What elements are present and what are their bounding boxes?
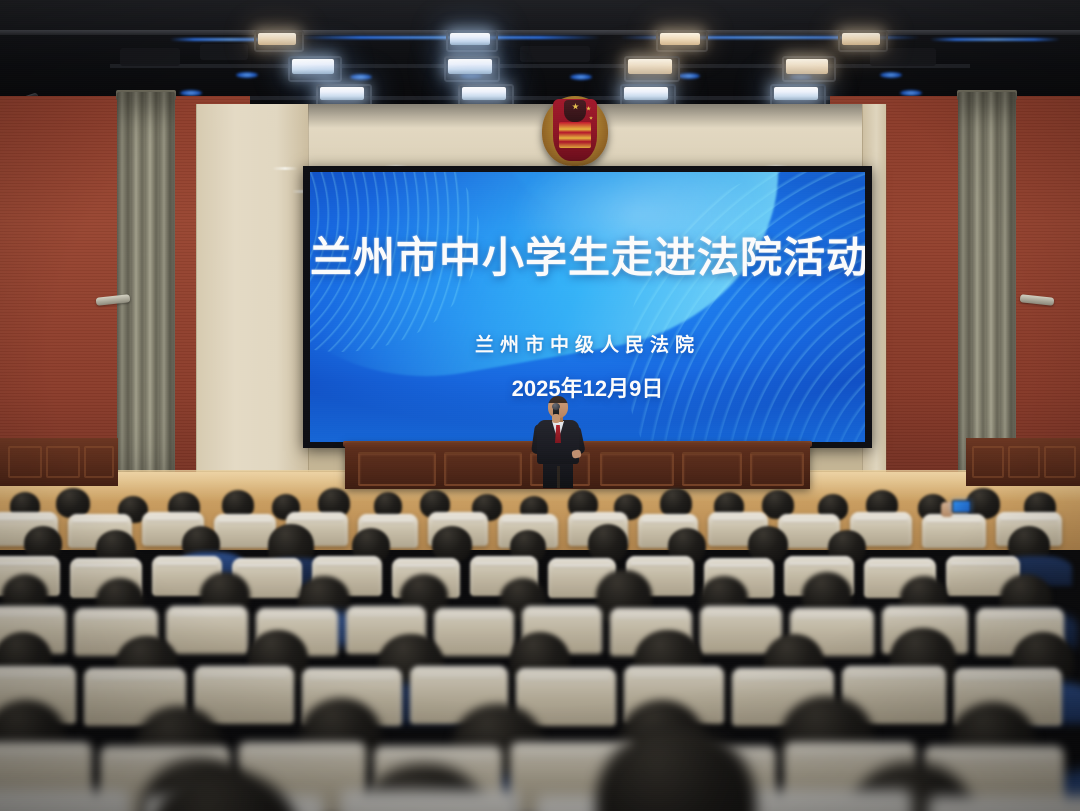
ceiling-lip [0,30,1080,35]
microphone-head [552,403,560,410]
stage-light [842,33,880,45]
ceiling-led-dot [236,72,258,78]
ceiling-led-dot [880,72,902,78]
stage-light [624,87,668,100]
stage-light [462,87,506,100]
screen-title: 兰州市中小学生走进法院活动 [310,224,865,285]
audience-seat [194,666,294,724]
audience-area [0,470,1080,811]
stage-light [774,87,818,100]
audience-seat [166,606,248,654]
ceiling-rig-block [120,48,180,66]
wall-seam [196,104,197,516]
audience-seat [434,608,514,656]
national-emblem-icon [542,92,608,170]
stage-light [292,59,334,74]
audience-seat [214,514,276,548]
ceiling-rig-block [200,44,248,60]
stage-light [786,59,828,74]
stage-light [258,33,296,45]
stage-light [628,59,672,74]
screen-subtitle: 兰州市中级人民法院 [310,330,865,357]
stage-light [660,33,700,45]
ceiling-led-strip [930,38,1060,41]
presenter-hand-gesture [571,449,581,458]
audience-seat [922,514,986,548]
audience-seat [0,790,130,811]
emblem-gate-top [564,100,586,122]
audience-seat [340,790,520,811]
curtain-left [117,92,175,522]
audience-seat [928,796,1080,811]
wall-pillar-left [196,104,308,516]
audience-head [588,524,628,562]
ceiling-rig-block [520,46,590,62]
presenter-hand [552,414,560,423]
auditorium-photo: 兰州市中小学生走进法院活动 兰州市中级人民法院 2025年12月9日 [0,0,1080,811]
wall-glint [272,167,298,170]
emblem-tiananmen-gate [559,122,591,148]
audience-seat [732,790,912,811]
phone-screen[interactable] [952,500,971,513]
stage-light [448,59,492,74]
screen-date: 2025年12月9日 [310,371,865,403]
ceiling-led-dot [570,74,592,80]
audience-head [748,526,788,562]
lighting-truss [110,64,970,68]
ceiling-led-dot [678,73,700,79]
ceiling-top-band [0,0,1080,30]
stage-light [450,33,490,45]
led-presentation-screen: 兰州市中小学生走进法院活动 兰州市中级人民法院 2025年12月9日 [310,172,865,442]
audience-head [432,526,472,562]
stage-light [320,87,364,100]
wall-seam [886,104,887,516]
audience-head [24,526,62,560]
ceiling-led-dot [350,74,372,80]
